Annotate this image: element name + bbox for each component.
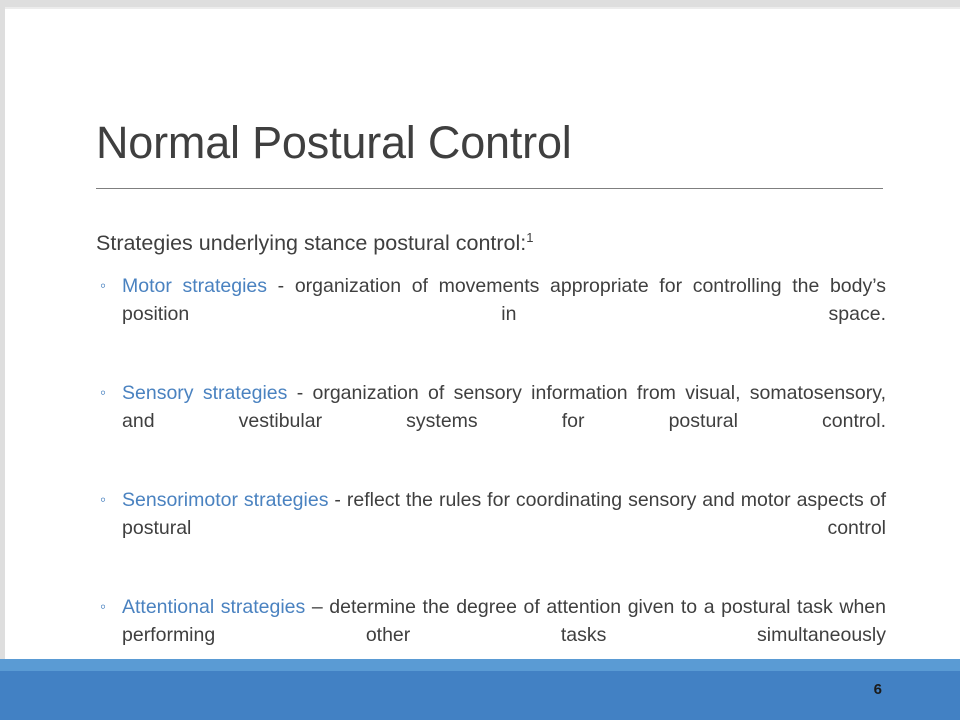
- page-number: 6: [874, 681, 882, 698]
- list-item: ◦Sensorimotor strategies - reflect the r…: [96, 486, 886, 570]
- slide-frame-top-inner-edge: [0, 7, 960, 9]
- lead-in-text: Strategies underlying stance postural co…: [96, 228, 886, 258]
- bullet-term: Attentional strategies: [122, 596, 305, 618]
- lead-in-superscript: 1: [526, 230, 533, 245]
- slide: Normal Postural Control Strategies under…: [0, 0, 960, 720]
- footer-bar: 6: [0, 671, 960, 720]
- footer-accent-strip: [0, 659, 960, 671]
- strategy-bullet-list: ◦Motor strategies - organization of move…: [96, 272, 886, 677]
- bullet-term: Sensory strategies: [122, 382, 287, 404]
- bullet-separator: –: [305, 596, 329, 618]
- list-item: ◦Motor strategies - organization of move…: [96, 272, 886, 356]
- bullet-circle-icon: ◦: [100, 486, 106, 514]
- bullet-circle-icon: ◦: [100, 593, 106, 621]
- bullet-circle-icon: ◦: [100, 272, 106, 300]
- slide-body: Strategies underlying stance postural co…: [96, 228, 886, 677]
- bullet-term: Sensorimotor strategies: [122, 489, 328, 511]
- slide-frame-top-edge: [0, 0, 960, 7]
- bullet-separator: -: [267, 275, 295, 297]
- bullet-term: Motor strategies: [122, 275, 267, 297]
- slide-title: Normal Postural Control: [96, 114, 896, 172]
- bullet-separator: -: [328, 489, 346, 511]
- bullet-separator: -: [287, 382, 312, 404]
- list-item: ◦Sensory strategies - organization of se…: [96, 379, 886, 463]
- lead-in-label: Strategies underlying stance postural co…: [96, 231, 526, 255]
- title-divider-rule: [96, 188, 883, 189]
- slide-frame-left-edge: [0, 0, 5, 720]
- bullet-circle-icon: ◦: [100, 379, 106, 407]
